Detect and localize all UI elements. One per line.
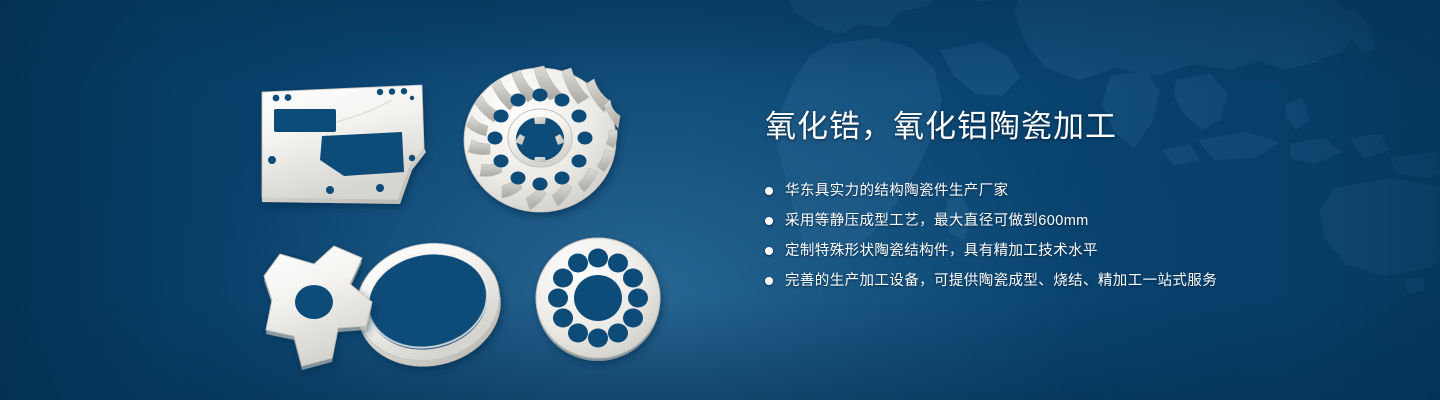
ceramic-cross-part [264, 246, 372, 370]
ceramic-plate-part [262, 85, 426, 204]
list-item-label: 完善的生产加工设备，可提供陶瓷成型、烧结、精加工一站式服务 [785, 271, 1217, 292]
ceramic-products-image [240, 40, 710, 385]
bullet-dot-icon [765, 277, 773, 285]
feature-list: 华东具实力的结构陶瓷件生产厂家 采用等静压成型工艺，最大直径可做到600mm 定… [765, 181, 1385, 292]
banner-copy: 氧化锆，氧化铝陶瓷加工 华东具实力的结构陶瓷件生产厂家 采用等静压成型工艺，最大… [765, 108, 1385, 292]
ceramic-perforated-disc-part [536, 238, 660, 361]
list-item: 采用等静压成型工艺，最大直径可做到600mm [765, 211, 1385, 232]
ceramic-impeller-part [464, 66, 620, 212]
list-item: 完善的生产加工设备，可提供陶瓷成型、烧结、精加工一站式服务 [765, 271, 1385, 292]
bullet-dot-icon [765, 187, 773, 195]
list-item-label: 采用等静压成型工艺，最大直径可做到600mm [785, 211, 1089, 232]
bullet-dot-icon [765, 217, 773, 225]
list-item-label: 华东具实力的结构陶瓷件生产厂家 [785, 181, 1009, 202]
list-item-label: 定制特殊形状陶瓷结构件，具有精加工技术水平 [785, 241, 1098, 262]
hero-banner: 氧化锆，氧化铝陶瓷加工 华东具实力的结构陶瓷件生产厂家 采用等静压成型工艺，最大… [0, 0, 1440, 400]
bullet-dot-icon [765, 247, 773, 255]
list-item: 华东具实力的结构陶瓷件生产厂家 [765, 181, 1385, 202]
page-title: 氧化锆，氧化铝陶瓷加工 [765, 108, 1385, 147]
list-item: 定制特殊形状陶瓷结构件，具有精加工技术水平 [765, 241, 1385, 262]
